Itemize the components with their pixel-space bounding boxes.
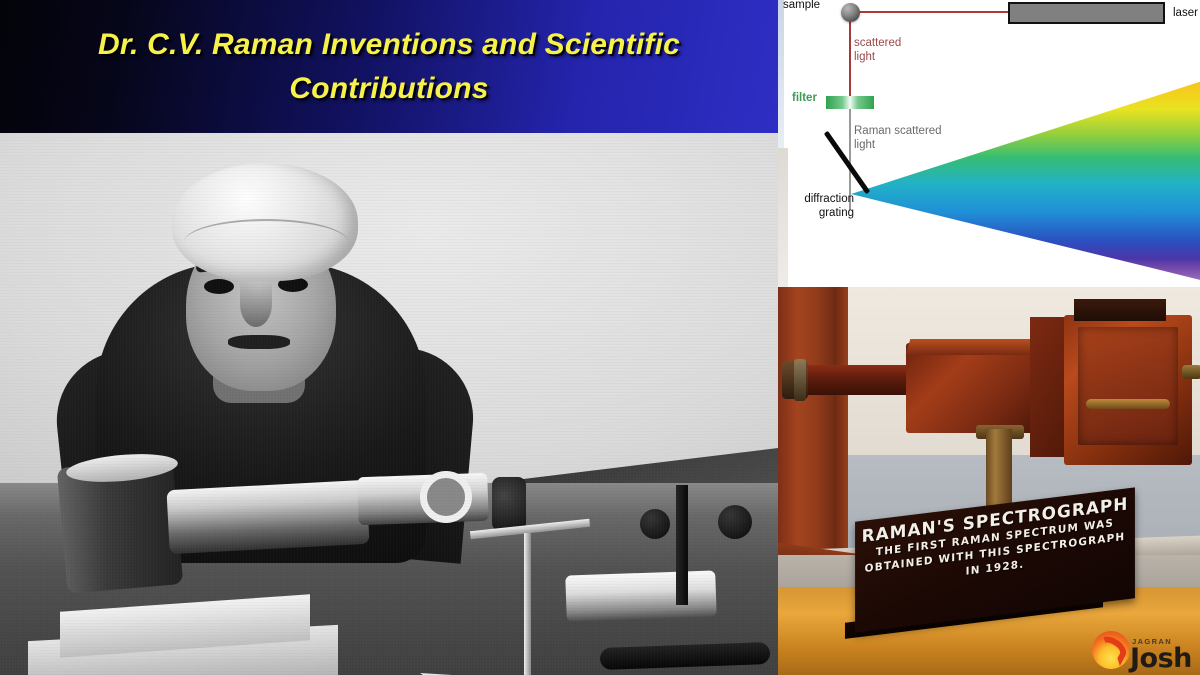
jagran-josh-logo: JAGRAN Josh bbox=[1092, 631, 1196, 673]
laser-source-box bbox=[1008, 2, 1165, 24]
page-title: Dr. C.V. Raman Inventions and Scientific… bbox=[29, 23, 749, 110]
label-scattered-light: scattered light bbox=[854, 36, 901, 65]
slide-root: Dr. C.V. Raman Inventions and Scientific… bbox=[0, 0, 1200, 675]
sample-sphere-icon bbox=[841, 3, 860, 22]
optical-filter-icon bbox=[826, 96, 874, 109]
slide-header: Dr. C.V. Raman Inventions and Scientific… bbox=[0, 0, 778, 133]
photo-film-grain bbox=[0, 133, 778, 675]
diagram-left-edge-tint bbox=[778, 0, 784, 150]
label-filter: filter bbox=[792, 91, 817, 105]
spectrograph-plate-panel bbox=[1078, 327, 1178, 445]
label-diffraction-grating: diffraction grating bbox=[780, 192, 854, 221]
raman-spectroscopy-diagram: sample laser scattered light filter Rama… bbox=[778, 0, 1200, 287]
label-raman-scattered-light: Raman scattered light bbox=[854, 124, 942, 153]
scattered-light-beam bbox=[849, 12, 851, 100]
spectrograph-brass-handle bbox=[1086, 399, 1170, 409]
room-door-frame bbox=[834, 287, 848, 587]
spectrograph-dark-top-cover bbox=[1074, 299, 1166, 321]
laser-beam-incident bbox=[850, 11, 1010, 13]
ramans-spectrograph-photo: RAMAN'S SPECTROGRAPH THE FIRST RAMAN SPE… bbox=[778, 287, 1200, 675]
label-laser: laser bbox=[1173, 6, 1198, 20]
label-sample: sample bbox=[783, 0, 820, 12]
spectrograph-tube-ring-front bbox=[794, 359, 806, 401]
logo-brand-main: Josh bbox=[1130, 643, 1192, 674]
spectrograph-prism-housing bbox=[906, 343, 1038, 433]
spectrograph-housing-top bbox=[906, 339, 1039, 355]
cv-raman-photo bbox=[0, 133, 778, 675]
spectrograph-side-knob bbox=[1182, 365, 1200, 379]
